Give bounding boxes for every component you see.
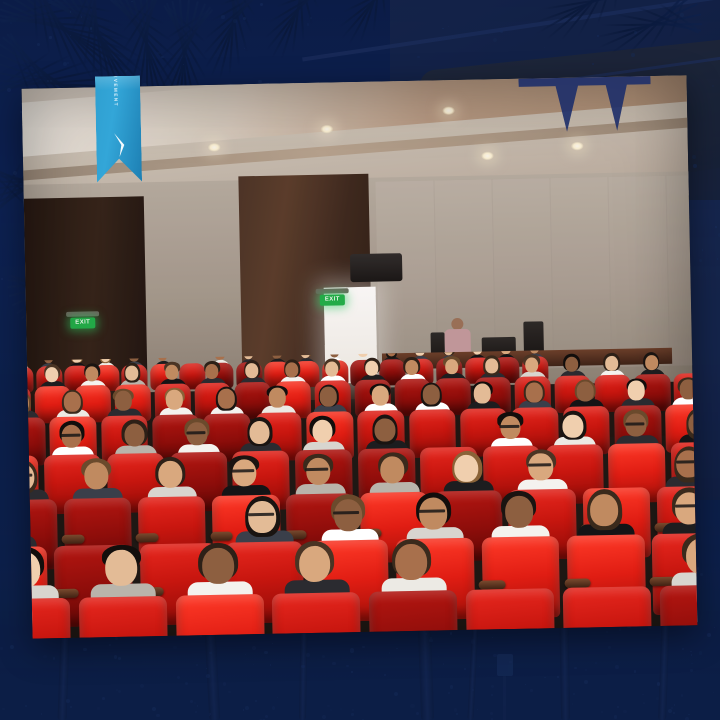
audience-head <box>375 418 396 442</box>
wall-panel <box>607 176 670 367</box>
audience-head <box>285 362 298 377</box>
auditorium-seat <box>272 592 362 639</box>
audience-head <box>445 359 458 374</box>
audience-head <box>84 462 109 490</box>
audience-head <box>158 460 183 488</box>
exit-sign-left-label: EXIT <box>70 317 95 328</box>
audience-head <box>419 497 448 530</box>
audience-head <box>245 363 258 378</box>
exit-sign-hood-left <box>66 311 99 317</box>
auditorium-seat <box>79 596 169 639</box>
audience-head <box>405 359 418 374</box>
seat-armrest <box>479 580 506 590</box>
audience-head <box>115 391 132 411</box>
exit-sign-right: EXIT <box>320 294 345 305</box>
audience-head <box>590 494 619 527</box>
audience-head <box>395 543 427 580</box>
audience-head <box>474 384 491 404</box>
seat-armrest <box>62 535 85 544</box>
audience-head <box>312 419 333 443</box>
audience-head <box>371 386 388 406</box>
audience-area <box>27 347 697 638</box>
audience-head <box>563 414 584 438</box>
audience-head <box>248 500 277 533</box>
exit-sign-right-label: EXIT <box>320 294 345 305</box>
auditorium-seat <box>175 594 265 639</box>
audience-head <box>334 499 363 532</box>
audience-head <box>485 358 498 373</box>
audience-head <box>528 453 553 481</box>
audience-head <box>217 389 234 409</box>
eyeglasses-icon <box>500 425 520 428</box>
seat-armrest <box>136 533 159 542</box>
audience-head <box>423 385 440 405</box>
audience-head <box>269 388 286 408</box>
exit-sign-left: EXIT <box>70 317 95 328</box>
audience-head <box>628 380 645 400</box>
wall-panel <box>549 177 612 368</box>
audience-head <box>504 495 533 528</box>
audience-head <box>63 392 80 412</box>
audience-head <box>675 492 697 525</box>
audience-head <box>525 383 542 403</box>
audience-head <box>365 360 378 375</box>
audience-head <box>645 355 658 370</box>
audience-head <box>205 363 218 378</box>
audience-head <box>320 387 337 407</box>
eyeglasses-icon <box>625 422 645 425</box>
eyeglasses-icon <box>61 434 81 437</box>
audience-head <box>577 382 594 402</box>
wall-monitor <box>350 253 403 282</box>
audience-head <box>605 355 618 370</box>
audience-head <box>165 364 178 379</box>
poster-canvas: EXIT EXIT <box>0 0 720 720</box>
chevron-mark-icon <box>111 132 128 158</box>
audience-head <box>298 545 330 582</box>
audience-head <box>380 456 405 484</box>
audience-head <box>166 390 183 410</box>
audience-head <box>124 423 145 447</box>
exit-sign-hood-right <box>316 288 349 294</box>
audience-head <box>325 361 338 376</box>
audience-head <box>125 365 138 380</box>
audience-head <box>232 459 257 487</box>
audience-head <box>85 366 98 381</box>
audience-head <box>105 549 137 586</box>
audience-head <box>45 367 58 382</box>
eyeglasses-icon <box>186 431 206 434</box>
audience-head <box>525 357 538 372</box>
auditorium-seat <box>27 598 72 639</box>
audience-head <box>306 457 331 485</box>
seat-armrest <box>210 532 233 541</box>
seat-armrest <box>564 578 591 588</box>
audience-head <box>565 356 578 371</box>
audience-head <box>202 547 234 584</box>
